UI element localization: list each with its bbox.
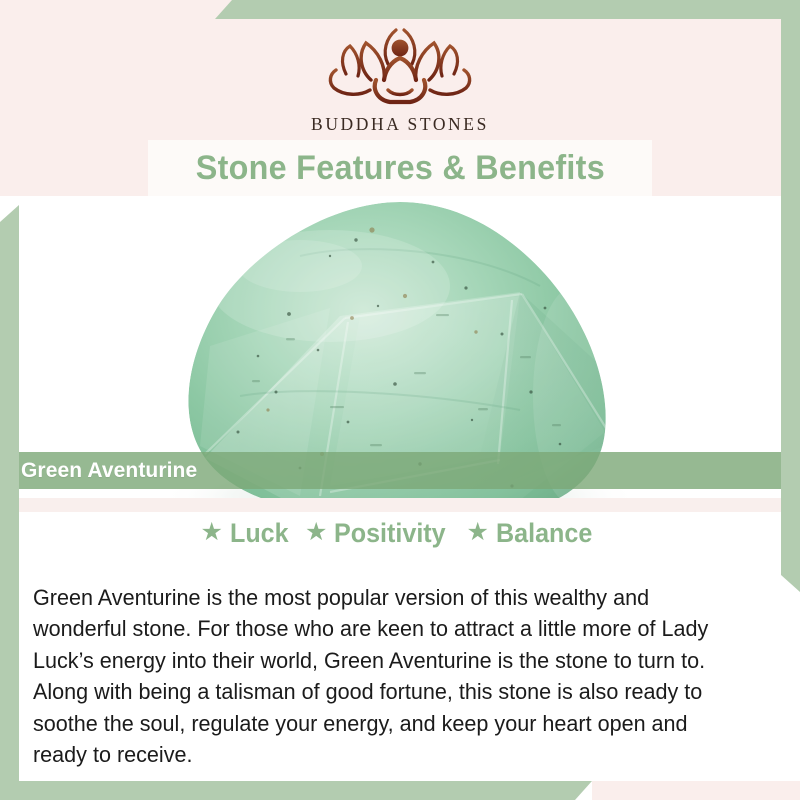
- bottom-cream-strip: [592, 781, 800, 800]
- lotus-meditation-icon: [316, 18, 484, 110]
- frame-bottom-accent: [0, 781, 592, 800]
- benefit-label: Positivity: [334, 518, 446, 549]
- header-band: BUDDHA STONES Stone Features & Benefits: [0, 0, 800, 196]
- frame-left-accent: [0, 205, 19, 800]
- stone-name-label: Green Aventurine: [21, 459, 197, 483]
- infographic-page: BUDDHA STONES Stone Features & Benefits: [0, 0, 800, 800]
- benefits-row: ★ Luck ★ Positivity ★ Balance: [0, 518, 800, 549]
- frame-right-accent: [781, 0, 800, 592]
- divider-strip: [19, 498, 781, 512]
- benefit-label: Luck: [230, 518, 289, 549]
- description-text: Green Aventurine is the most popular ver…: [33, 582, 740, 771]
- benefit-item-positivity: ★ Positivity: [305, 518, 454, 549]
- title-banner: Stone Features & Benefits: [148, 140, 652, 196]
- brand-logo: BUDDHA STONES: [0, 18, 800, 135]
- benefit-item-balance: ★ Balance: [466, 518, 599, 549]
- star-icon: ★: [201, 520, 223, 545]
- benefit-item-luck: ★ Luck: [201, 518, 293, 549]
- benefit-label: Balance: [496, 518, 592, 549]
- page-title: Stone Features & Benefits: [195, 149, 604, 188]
- star-icon: ★: [466, 520, 488, 545]
- frame-top-accent: [215, 0, 800, 19]
- stone-name-bar: Green Aventurine: [0, 452, 800, 489]
- brand-name: BUDDHA STONES: [311, 114, 489, 135]
- star-icon: ★: [305, 520, 327, 545]
